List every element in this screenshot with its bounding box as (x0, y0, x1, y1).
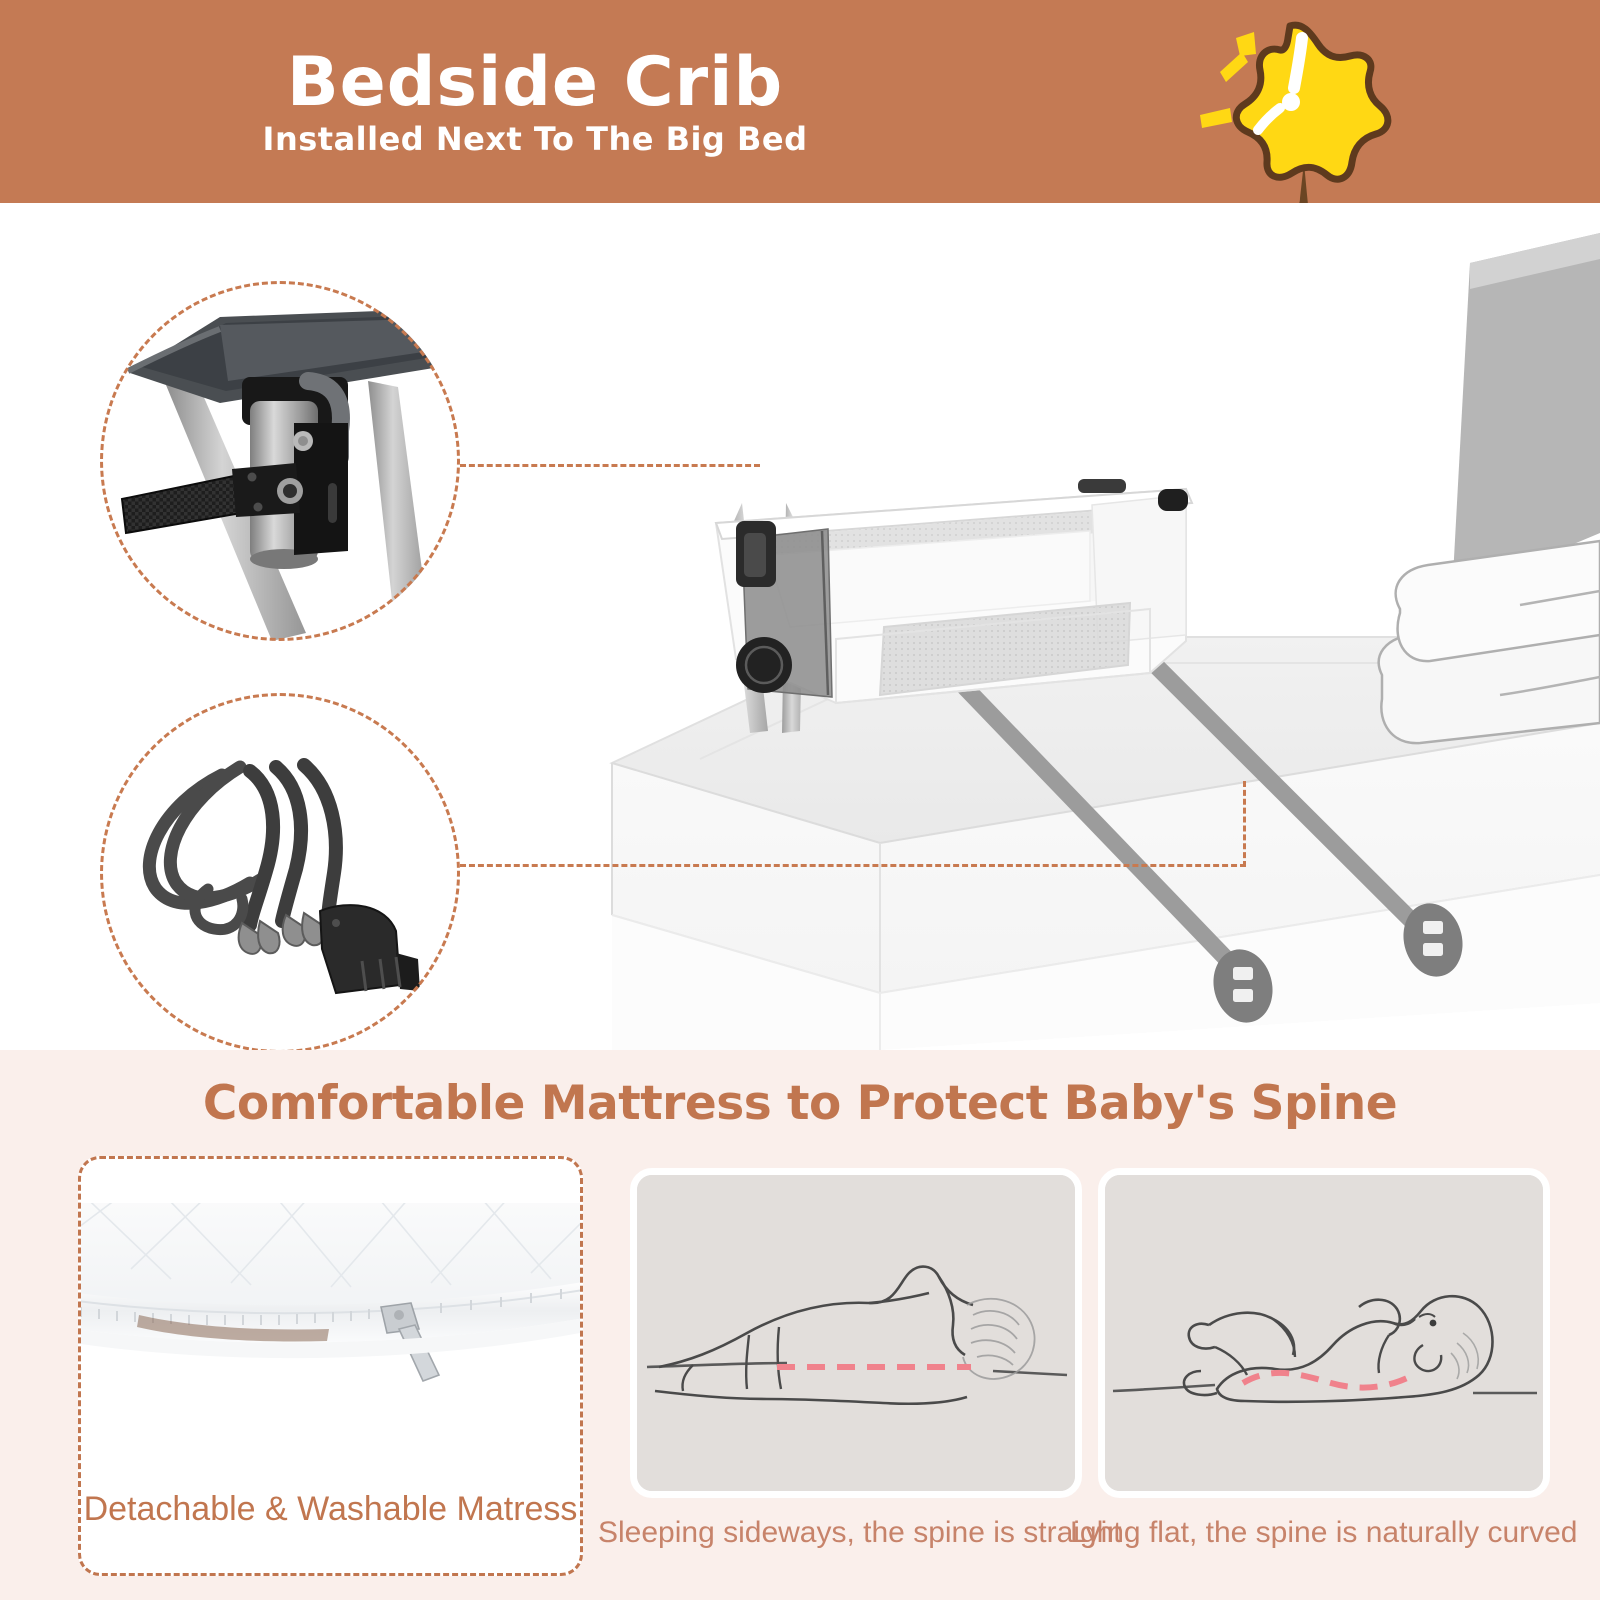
baby-caption-flat: Lying flat, the spine is naturally curve… (1070, 1516, 1578, 1550)
infographic-page: Bedside Crib Installed Next To The Big B… (0, 0, 1600, 1600)
star-decoration-icon (1180, 10, 1410, 203)
callout-circle-straps (100, 693, 460, 1050)
baby-lying-flat-panel (1098, 1168, 1550, 1498)
main-illustration-area (0, 203, 1600, 1050)
connector-line-clamp (460, 464, 760, 467)
page-title: Bedside Crib (287, 49, 783, 117)
page-subtitle: Installed Next To The Big Bed (263, 123, 808, 155)
section-title: Comfortable Mattress to Protect Baby's S… (0, 1076, 1600, 1131)
connector-line-straps (460, 864, 1246, 867)
callout-circle-clamp (100, 281, 460, 641)
baby-sleeping-sideways-panel (630, 1168, 1082, 1498)
connector-line-straps-riser (1243, 781, 1246, 867)
header-text-block: Bedside Crib Installed Next To The Big B… (0, 0, 1070, 203)
mattress-section: Comfortable Mattress to Protect Baby's S… (0, 1050, 1600, 1600)
header-banner: Bedside Crib Installed Next To The Big B… (0, 0, 1600, 203)
mattress-caption: Detachable & Washable Matress (81, 1490, 580, 1529)
baby-caption-sideways: Sleeping sideways, the spine is straight (598, 1516, 1122, 1550)
mattress-photo-card: Detachable & Washable Matress (78, 1156, 583, 1576)
